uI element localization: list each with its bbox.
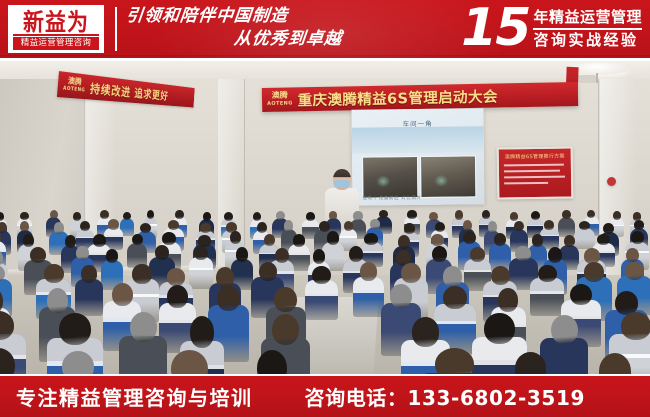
audience-person-head xyxy=(435,348,474,374)
audience-person-head xyxy=(401,263,420,283)
audience-person-head xyxy=(564,235,575,247)
audience-person xyxy=(49,351,106,374)
audience-person-head xyxy=(443,286,467,309)
audience-person-torso xyxy=(75,279,103,316)
uniform-reflective-stripe xyxy=(530,291,564,294)
audience-person xyxy=(530,265,564,317)
audience-person-head xyxy=(50,210,58,219)
audience-person-head xyxy=(498,288,518,311)
audience-person-head xyxy=(398,235,410,249)
audience-person-head xyxy=(23,234,34,246)
audience-person-head xyxy=(562,210,571,219)
years-number: 15 xyxy=(461,2,529,54)
audience-person-head xyxy=(429,212,438,221)
audience-person-head xyxy=(584,262,604,282)
audience-person-head xyxy=(551,315,578,345)
company-logo: 新益为 精益运营管理咨询 xyxy=(8,5,104,53)
audience-person-head xyxy=(293,234,305,247)
audience-person-head xyxy=(100,210,109,220)
audience-person-head xyxy=(81,265,97,282)
audience-person-head xyxy=(190,316,214,348)
audience-person-head xyxy=(488,221,497,232)
audience-person-head xyxy=(123,212,131,220)
years-line-2: 咨询实战经验 xyxy=(533,31,642,50)
audience-person-head xyxy=(463,231,476,244)
audience-person-head xyxy=(390,284,413,309)
logo-name: 新益为 xyxy=(23,9,89,34)
audience-person-head xyxy=(276,211,285,220)
footer-contact-label: 咨询电话： xyxy=(305,386,408,410)
years-divider xyxy=(533,28,642,30)
audience-person-head xyxy=(200,223,211,233)
audience-person-head xyxy=(132,264,151,284)
audience-person-head xyxy=(634,220,644,230)
audience-person-head xyxy=(364,233,378,245)
audience-person xyxy=(420,348,489,374)
audience-person-head xyxy=(570,284,592,306)
audience-person-head xyxy=(132,234,143,246)
audience-person-head xyxy=(167,285,188,308)
audience-person-head xyxy=(538,265,557,283)
audience-person-head xyxy=(379,210,388,218)
audience-person-head xyxy=(370,219,380,228)
audience-person-head xyxy=(73,212,81,221)
audience-person-head xyxy=(319,221,330,232)
slogan-line-1: 引领和陪伴中国制造 xyxy=(125,6,289,26)
audience-person xyxy=(157,350,223,374)
audience-person-head xyxy=(412,317,440,347)
audience-person-head xyxy=(626,248,639,262)
years-line-1: 年精益运营管理 xyxy=(533,8,642,27)
audience-person-head xyxy=(597,234,610,245)
audience-person-head xyxy=(175,210,183,219)
audience-person-head xyxy=(360,262,378,281)
slogan-line-2: 从优秀到卓越 xyxy=(233,29,343,49)
audience-person-head xyxy=(544,220,555,230)
uniform-reflective-stripe xyxy=(305,294,338,297)
audience-person-torso xyxy=(558,217,575,236)
audience-person-head xyxy=(54,222,65,233)
audience-person-head xyxy=(463,220,472,231)
audience-person xyxy=(558,210,575,236)
audience-person-head xyxy=(93,234,106,247)
audience-person-head xyxy=(47,288,68,313)
audience-person-head xyxy=(482,210,489,219)
audience-person-head xyxy=(443,266,461,286)
audience-person-head xyxy=(224,212,233,221)
meeting-photo: 澳腾 AOTENG 持续改进 追求更好 澳腾 AOTENG 重庆澳腾精益6S管理… xyxy=(0,61,650,374)
audience-person-head xyxy=(108,219,119,229)
audience-person-head xyxy=(162,232,176,245)
audience-person-head xyxy=(76,246,89,260)
audience-person-head xyxy=(171,350,208,374)
audience-person xyxy=(75,265,103,316)
audience-person-head xyxy=(257,222,267,233)
audience-person-head xyxy=(312,266,331,284)
footer-banner: 专注精益管理咨询与培训 咨询电话：133-6802-3519 xyxy=(0,376,650,417)
audience-person-head xyxy=(484,313,515,344)
audience-person-head xyxy=(613,211,621,220)
header-vertical-divider xyxy=(115,7,117,51)
audience-person xyxy=(0,348,29,374)
audience-crowd xyxy=(0,61,650,374)
years-text-block: 年精益运营管理 咨询实战经验 xyxy=(533,8,642,50)
audience-person-head xyxy=(599,353,632,374)
footer-contact: 咨询电话：133-6802-3519 xyxy=(305,382,585,411)
uniform-shoulder-panel xyxy=(0,241,6,250)
audience-person-head xyxy=(217,285,240,311)
audience-person-head xyxy=(44,264,64,282)
audience-person-head xyxy=(62,351,94,374)
audience-person-head xyxy=(257,350,287,374)
audience-person-head xyxy=(253,212,261,221)
audience-person-head xyxy=(140,223,151,233)
audience-person-head xyxy=(404,223,414,235)
audience-person-head xyxy=(631,231,645,244)
audience-person-head xyxy=(349,246,363,262)
audience-person-head xyxy=(20,212,29,221)
audience-person xyxy=(305,266,338,320)
audience-person-head xyxy=(264,234,275,246)
audience-person-head xyxy=(432,246,447,262)
audience-person-head xyxy=(621,312,650,340)
audience-person-head xyxy=(515,246,531,261)
audience-person-head xyxy=(284,220,293,231)
audience-person xyxy=(353,262,384,317)
audience-person-torso xyxy=(530,278,564,316)
audience-person-head xyxy=(494,233,506,246)
audience-person-head xyxy=(491,266,510,285)
audience-person-head xyxy=(80,221,90,231)
logo-tagline: 精益运营管理咨询 xyxy=(13,37,99,50)
audience-person-head xyxy=(59,313,91,345)
audience-person-head xyxy=(112,283,133,306)
audience-person-head xyxy=(130,312,157,343)
audience-person-head xyxy=(203,212,211,221)
audience-person-head xyxy=(236,247,249,262)
audience-person-head xyxy=(259,262,277,281)
experience-badge: 15 年精益运营管理 咨询实战经验 xyxy=(461,1,642,57)
audience-person-head xyxy=(515,352,546,374)
audience-person-head xyxy=(327,231,340,244)
audience-person-head xyxy=(344,221,354,231)
audience-person-head xyxy=(625,262,645,280)
audience-person-head xyxy=(548,247,562,263)
header-banner: 新益为 精益运营管理咨询 引领和陪伴中国制造 从优秀到卓越 15 年精益运营管理… xyxy=(0,0,650,58)
audience-person-head xyxy=(274,287,296,312)
audience-person-head xyxy=(431,234,444,246)
audience-person-head xyxy=(230,231,241,244)
uniform-reflective-stripe xyxy=(353,290,384,293)
audience-person-head xyxy=(167,268,186,286)
footer-slogan: 专注精益管理咨询与培训 xyxy=(16,382,253,411)
header-slogan: 引领和陪伴中国制造 从优秀到卓越 xyxy=(126,4,406,56)
audience-person-torso xyxy=(305,280,338,320)
audience-person-head xyxy=(407,210,416,218)
audience-person-head xyxy=(272,314,299,345)
audience-person-head xyxy=(532,234,543,246)
audience-person-head xyxy=(435,222,445,232)
audience-person xyxy=(586,353,644,374)
audience-person-head xyxy=(470,247,485,262)
audience-person-head xyxy=(194,246,208,261)
footer-phone-number: 133-6802-3519 xyxy=(408,386,585,410)
promo-image-root: 新益为 精益运营管理咨询 引领和陪伴中国制造 从优秀到卓越 15 年精益运营管理… xyxy=(0,0,650,417)
audience-person xyxy=(245,350,299,374)
audience-person-head xyxy=(531,211,540,220)
audience-person-head xyxy=(455,210,463,220)
audience-person-torso xyxy=(353,277,384,317)
audience-person-head xyxy=(329,211,337,219)
audience-person-head xyxy=(0,348,15,374)
audience-person-head xyxy=(353,211,362,220)
audience-person xyxy=(503,352,559,374)
